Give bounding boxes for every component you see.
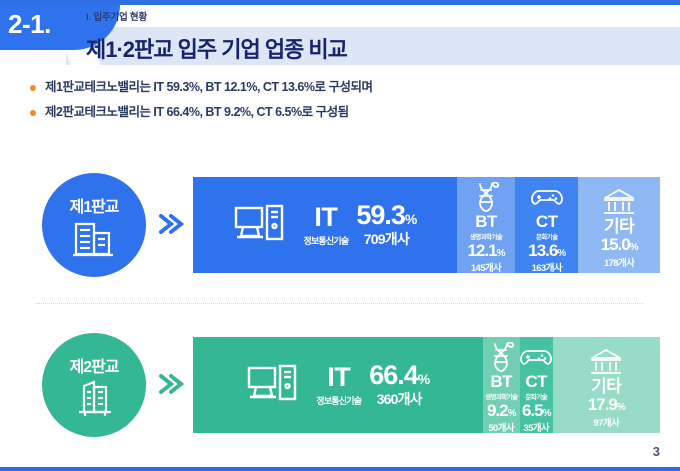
segment-percent-it: 59.3% [356,200,416,230]
section-number-label: 2-1. [8,9,51,40]
breadcrumb-band [80,5,680,27]
segment-sublabel-ct: 문화기술 [536,231,558,241]
bar-segment-ct: CT 문화기술 13.6% 163개사 [515,177,578,273]
bullet-dot-icon [30,85,36,91]
segment-count-etc: 97개사 [593,415,619,429]
slide-header: 2-1. I. 입주기업 현황 제1·2판교 입주 기업 업종 비교 [0,5,680,67]
segment-sublabel-bt: 생명과학기술 [470,231,502,241]
segment-name-it: IT [314,202,337,232]
bank-icon [602,187,636,217]
series-circle-pangyo2: 제2판교 [42,333,146,437]
segment-count-ct: 35개사 [523,420,549,433]
series-circle-pangyo1: 제1판교 [42,173,146,277]
gamepad-icon [530,182,564,212]
bar-segment-it: IT 정보통신기술 66.4% 360개사 [193,337,483,433]
computer-icon [233,200,289,250]
segment-percent-etc: 17.9% [588,396,625,415]
segment-count-bt: 145개사 [471,260,501,273]
bullet-text: 제2판교테크노밸리는 IT 66.4%, BT 9.2%, CT 6.5%로 구… [45,104,349,121]
breadcrumb: I. 입주기업 현황 [86,9,147,23]
dna-icon [469,182,503,212]
bottom-accent-bar [0,467,680,471]
segment-percent-ct: 6.5% [522,402,551,421]
segment-count-bt: 50개사 [488,420,514,433]
chevron-right-icon [156,211,184,237]
bar-segment-etc: 기타 17.9% 97개사 [553,337,660,433]
segment-sublabel-it: 정보통신기술 [303,236,348,246]
segment-name-etc: 기타 [604,218,634,235]
chevron-right-icon [156,371,184,397]
bar-segment-ct: CT 문화기술 6.5% 35개사 [520,337,553,433]
segment-count-it: 360개사 [377,391,422,407]
segment-count-it: 709개사 [364,231,409,247]
segment-sublabel-ct: 문화기술 [525,391,547,401]
computer-icon [246,360,302,410]
segment-name-it: IT [327,362,350,392]
gamepad-icon [519,342,553,372]
chart-row-pangyo2: 제2판교 [0,325,680,445]
list-item: 제1판교테크노밸리는 IT 59.3%, BT 12.1%, CT 13.6%로… [30,79,630,96]
bar-segment-etc: 기타 15.0% 178개사 [578,177,660,273]
page-title: 제1·2판교 입주 기업 업종 비교 [86,32,347,64]
stacked-bar-pangyo1: IT 정보통신기술 59.3% 709개사 BT 생 [193,177,660,273]
segment-count-etc: 178개사 [604,255,634,269]
segment-name-ct: CT [536,213,558,230]
segment-percent-ct: 13.6% [528,242,565,261]
bar-segment-bt: BT 생명과학기술 12.1% 145개사 [457,177,515,273]
building-icon [72,378,116,418]
segment-percent-bt: 12.1% [468,242,505,261]
segment-name-bt: BT [490,373,512,390]
bank-icon [589,347,623,377]
stacked-bar-pangyo2: IT 정보통신기술 66.4% 360개사 BT 생 [193,337,660,433]
row-divider [36,303,644,304]
building-icon [72,218,116,258]
segment-sublabel-bt: 생명과학기술 [485,391,517,401]
segment-name-bt: BT [475,213,497,230]
list-item: 제2판교테크노밸리는 IT 66.4%, BT 9.2%, CT 6.5%로 구… [30,104,630,121]
dna-icon [484,342,518,372]
segment-percent-etc: 15.0% [601,236,638,255]
series-circle-label: 제2판교 [69,353,118,377]
segment-percent-bt: 9.2% [487,402,516,421]
bullet-dot-icon [30,110,36,116]
segment-sublabel-it: 정보통신기술 [316,396,361,406]
page-number: 3 [653,444,660,459]
bullet-list: 제1판교테크노밸리는 IT 59.3%, BT 12.1%, CT 13.6%로… [30,79,630,129]
bar-segment-it: IT 정보통신기술 59.3% 709개사 [193,177,457,273]
segment-count-ct: 163개사 [532,260,562,273]
segment-name-etc: 기타 [591,378,621,395]
chart-row-pangyo1: 제1판교 [0,165,680,285]
segment-name-ct: CT [525,373,547,390]
bar-segment-bt: BT 생명과학기술 9.2% 50개사 [483,337,520,433]
series-circle-label: 제1판교 [69,193,118,217]
bullet-text: 제1판교테크노밸리는 IT 59.3%, BT 12.1%, CT 13.6%로… [45,79,372,96]
segment-percent-it: 66.4% [369,360,429,390]
